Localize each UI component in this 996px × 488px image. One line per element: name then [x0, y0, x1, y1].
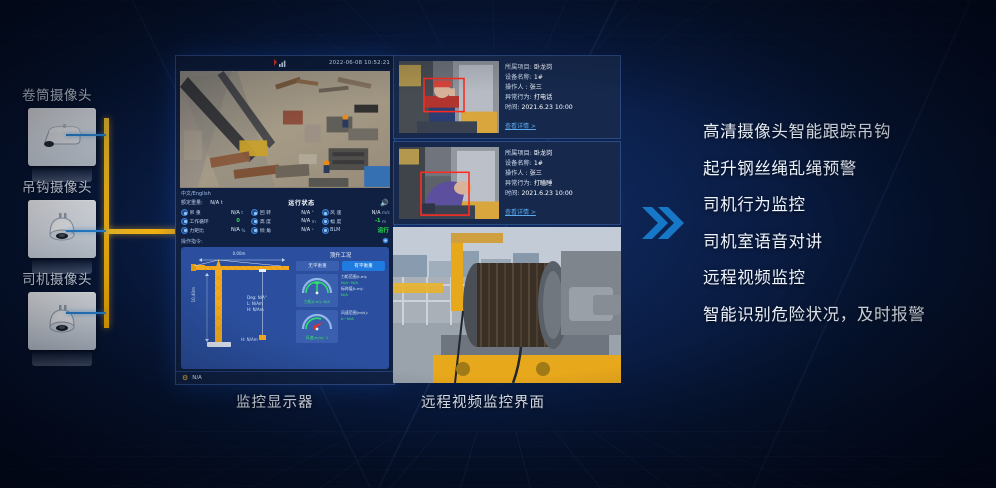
crane-readouts: Deg: N/A° L: N/Am H: N/Am: [247, 295, 267, 313]
param-cell: BLM 运行: [322, 226, 389, 234]
rated-weight-unit: t: [221, 200, 223, 206]
gauge-row-moment: 力矩(t.m): N/A 力矩范围(t.m): N/A~N/A 标称值(t.m)…: [296, 274, 385, 307]
monitor-status-bar: ⚙ N/A: [176, 371, 394, 384]
status-bar-text: N/A: [192, 375, 202, 381]
monitor-timestamp: 2022-06-08 10:52:21: [329, 60, 390, 66]
alert-detail-link[interactable]: 查看详情 >: [505, 207, 536, 216]
wind-icon: [322, 209, 329, 216]
crane-hook-label: H: N/Am: [241, 337, 258, 342]
camera-thumbnail[interactable]: [28, 108, 96, 166]
alert-operator: 操作人 : 张三: [505, 169, 615, 179]
rated-weight-value: N/A: [210, 200, 219, 206]
alert-device-label: 设备名称:: [505, 160, 532, 167]
feature-item: 起升钢丝绳乱绳预警: [703, 155, 925, 179]
status-panel-header: 额定重量: N/A t 运行状态 🔊: [181, 198, 389, 207]
status-panel: 额定重量: N/A t 运行状态 🔊 吊 重 N/A t 回 转 N/A: [176, 197, 394, 236]
param-label: 幅 度: [330, 218, 366, 225]
alert-device-label: 设备名称:: [505, 74, 532, 81]
alert-project-value: 卧龙岗: [534, 150, 553, 157]
param-value: N/A: [368, 210, 381, 216]
alert-thumbnail[interactable]: [399, 61, 499, 133]
tab-with-counterweight[interactable]: 有平衡重: [342, 261, 385, 271]
alert-operator-label: 操作人 :: [505, 170, 528, 177]
command-row: 操作指令:: [176, 236, 394, 247]
alert-device-value: 1#: [534, 74, 543, 81]
monitor-topbar: 2022-06-08 10:52:21: [176, 56, 394, 69]
alert-time-label: 时间:: [505, 104, 519, 111]
live-camera-feed[interactable]: [180, 71, 390, 188]
tab-without-counterweight[interactable]: 无平衡重: [296, 261, 339, 271]
camera-thumbnail[interactable]: [28, 292, 96, 350]
alert-time-value: 2021.6.23 10:00: [521, 190, 572, 197]
wind-range-value: 0~N/A: [341, 316, 385, 322]
crane-diagram: 0.00m: [185, 251, 293, 367]
camera-item-driver[interactable]: 司机摄像头: [14, 268, 154, 350]
blm-icon: [322, 227, 329, 234]
param-label: 吊 重: [190, 209, 226, 216]
param-unit: m: [312, 219, 319, 224]
alert-project-label: 所属项目:: [505, 150, 532, 157]
param-cell: 回 转 N/A °: [251, 209, 318, 216]
moment-gauge-caption: 力矩(t.m): N/A: [298, 299, 336, 305]
weight-icon: [181, 209, 188, 216]
gauge-tabs: 无平衡重 有平衡重: [296, 261, 385, 271]
feature-item: 智能识别危险状况，及时报警: [703, 301, 925, 325]
crane-height-label: 10.40m: [191, 287, 196, 302]
remote-video-panel: 所属项目: 卧龙岗 设备名称: 1# 操作人 : 张三 异常行为: 打电话 时间…: [393, 55, 621, 385]
dome-camera-icon: [42, 212, 82, 246]
alert-behavior-value: 打瞌睡: [534, 180, 553, 187]
height-icon: [251, 218, 258, 225]
alert-operator-value: 张三: [530, 84, 542, 91]
param-value: N/A: [297, 210, 310, 216]
connector-bus-horizontal: [104, 229, 180, 234]
alert-behavior-label: 异常行为:: [505, 180, 532, 187]
monitor-display: 2022-06-08 10:52:21: [175, 55, 395, 385]
param-cell: 力矩比 N/A %: [181, 226, 248, 234]
param-cell: 吊 重 N/A t: [181, 209, 248, 216]
feature-list: 高清摄像头智能跟踪吊钩 起升钢丝绳乱绳预警 司机行为监控 司机室语音对讲 远程视…: [703, 118, 925, 337]
alert-detail-link[interactable]: 查看详情 >: [505, 121, 536, 130]
param-label: 回 转: [260, 209, 296, 216]
alert-behavior: 异常行为: 打瞌睡: [505, 179, 615, 189]
crane-span-label: 0.00m: [185, 251, 293, 256]
alert-behavior-label: 异常行为:: [505, 94, 532, 101]
connector-bus-vertical: [104, 118, 109, 328]
operating-condition-card: 0.00m: [181, 247, 389, 369]
alert-operator-label: 操作人 :: [505, 84, 528, 91]
camera-list: 卷筒摄像头 吊钩摄像头: [14, 84, 154, 360]
cycle-icon: [181, 218, 188, 225]
alert-device: 设备名称: 1#: [505, 73, 615, 83]
param-unit: %: [241, 228, 248, 233]
alert-device: 设备名称: 1#: [505, 159, 615, 169]
alert-operator-value: 张三: [530, 170, 542, 177]
rated-weight: 额定重量: N/A t: [181, 199, 223, 206]
language-toggle[interactable]: 中文/English: [176, 188, 394, 197]
alert-details: 所属项目: 卧龙岗 设备名称: 1# 操作人 : 张三 异常行为: 打电话 时间…: [505, 61, 615, 133]
param-cell: 倾 角 N/A °: [251, 226, 318, 234]
param-cell: 高 度 N/A m: [251, 218, 318, 225]
param-unit: t: [241, 210, 248, 215]
alert-card[interactable]: 所属项目: 卧龙岗 设备名称: 1# 操作人 : 张三 异常行为: 打电话 时间…: [393, 55, 621, 139]
crane-readout-h: H: N/Am: [247, 307, 267, 313]
camera-thumbnail[interactable]: [28, 200, 96, 258]
caption-remote: 远程视频监控界面: [421, 391, 545, 412]
param-label: 风 速: [330, 209, 366, 216]
alert-time: 时间: 2021.6.23 10:00: [505, 103, 615, 113]
param-cell: 工作循环 0: [181, 218, 248, 225]
radius-icon: [322, 218, 329, 225]
connector-lead-drum: [66, 134, 106, 136]
wind-gauge-caption: 风速(m/s): 1: [298, 335, 336, 341]
alert-behavior-value: 打电话: [534, 94, 553, 101]
gauge-panel-title: 顶升工况: [296, 251, 385, 259]
alert-project: 所属项目: 卧龙岗: [505, 149, 615, 159]
dome-camera-icon: [42, 304, 82, 338]
rotation-icon: [251, 209, 258, 216]
caption-monitor: 监控显示器: [236, 391, 314, 412]
infographic-stage: 卷筒摄像头 吊钩摄像头: [0, 0, 996, 488]
param-label: 高 度: [260, 218, 296, 225]
moment-icon: [181, 227, 188, 234]
alert-details: 所属项目: 卧龙岗 设备名称: 1# 操作人 : 张三 异常行为: 打瞌睡 时间…: [505, 147, 615, 219]
camera-item-drum[interactable]: 卷筒摄像头: [14, 84, 154, 166]
feature-item: 高清摄像头智能跟踪吊钩: [703, 118, 925, 142]
param-label: 倾 角: [260, 227, 296, 234]
moment-nominal-value: N/A: [341, 292, 385, 298]
moment-gauge: 力矩(t.m): N/A: [296, 274, 338, 307]
drum-camera-icon: [39, 122, 85, 152]
param-value: -1: [368, 218, 381, 224]
param-unit: °: [312, 210, 319, 215]
signal-bars-icon: [272, 58, 288, 67]
feature-item: 司机行为监控: [703, 191, 925, 215]
param-label: 工作循环: [190, 218, 226, 225]
alert-project-label: 所属项目:: [505, 64, 532, 71]
param-cell: 风 速 N/A m/s: [322, 209, 389, 216]
command-label: 操作指令:: [181, 238, 203, 245]
camera-label: 卷筒摄像头: [14, 84, 154, 104]
gauge-row-wind: 风速(m/s): 1 风速范围(m/s): 0~N/A: [296, 310, 385, 343]
alert-time: 时间: 2021.6.23 10:00: [505, 189, 615, 199]
param-label: 力矩比: [190, 227, 226, 234]
param-value: N/A: [297, 218, 310, 224]
param-value: N/A: [227, 227, 240, 233]
status-panel-title: 运行状态: [288, 198, 314, 207]
param-value: 运行: [376, 226, 389, 234]
speaker-icon[interactable]: 🔊: [380, 199, 389, 207]
param-unit: m: [382, 219, 389, 224]
param-label: BLM: [330, 228, 374, 233]
moment-gauge-info: 力矩范围(t.m): N/A~N/A 标称值(t.m): N/A: [341, 274, 385, 298]
alert-thumbnail[interactable]: [399, 147, 499, 219]
alert-project: 所属项目: 卧龙岗: [505, 63, 615, 73]
alert-project-value: 卧龙岗: [534, 64, 553, 71]
chevron-right-icon: [640, 203, 684, 247]
alert-card[interactable]: 所属项目: 卧龙岗 设备名称: 1# 操作人 : 张三 异常行为: 打瞌睡 时间…: [393, 141, 621, 225]
wind-gauge-info: 风速范围(m/s): 0~N/A: [341, 310, 385, 322]
rated-weight-label: 额定重量:: [181, 200, 203, 206]
feature-item: 司机室语音对讲: [703, 228, 925, 252]
gauge-panel: 顶升工况 无平衡重 有平衡重 力矩(t.m): N/A: [296, 251, 385, 367]
alert-time-value: 2021.6.23 10:00: [521, 104, 572, 111]
param-unit: m/s: [382, 210, 389, 215]
alert-device-value: 1#: [534, 160, 543, 167]
alert-behavior: 异常行为: 打电话: [505, 93, 615, 103]
tilt-icon: [251, 227, 258, 234]
param-value: N/A: [297, 227, 310, 233]
param-value: 0: [227, 218, 240, 224]
alert-time-label: 时间:: [505, 190, 519, 197]
settings-icon[interactable]: [382, 237, 389, 246]
winch-drum-feed[interactable]: [393, 227, 621, 383]
gear-icon[interactable]: ⚙: [182, 374, 188, 382]
feature-item: 远程视频监控: [703, 264, 925, 288]
param-unit: °: [312, 228, 319, 233]
alert-operator: 操作人 : 张三: [505, 83, 615, 93]
parameter-grid: 吊 重 N/A t 回 转 N/A ° 风 速 N/A m/s: [181, 209, 389, 234]
wind-gauge: 风速(m/s): 1: [296, 310, 338, 343]
connector-lead-hook: [66, 230, 106, 232]
connector-lead-driver: [66, 312, 106, 314]
param-value: N/A: [227, 210, 240, 216]
camera-item-hook[interactable]: 吊钩摄像头: [14, 176, 154, 258]
param-cell: 幅 度 -1 m: [322, 218, 389, 225]
